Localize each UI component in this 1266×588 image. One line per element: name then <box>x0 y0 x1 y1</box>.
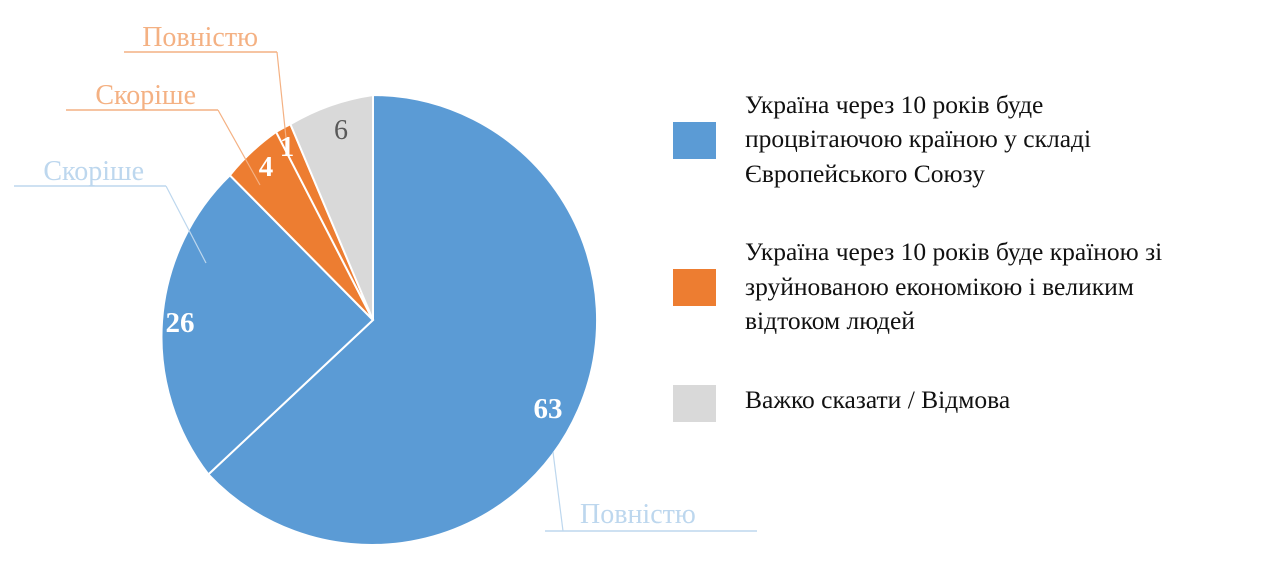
slice-value-rather-prosper: 26 <box>166 307 195 339</box>
legend-line: зруйнованою економікою і великим <box>745 270 1162 304</box>
chart-legend: Україна через 10 років буде процвітаючою… <box>673 88 1253 466</box>
legend-item-hard-to-say[interactable]: Важко сказати / Відмова <box>673 383 1253 422</box>
legend-line: процвітаючою країною у складі <box>745 122 1091 156</box>
legend-swatch-blue <box>673 122 716 159</box>
legend-label-prosperous-eu: Україна через 10 років буде процвітаючою… <box>745 88 1091 191</box>
slice-value-fully-prosper: 63 <box>534 393 563 425</box>
pie-chart-figure: 63 26 4 1 6 Повністю Скоріше Скоріше Пов… <box>0 0 1266 588</box>
legend-line: Важко сказати / Відмова <box>745 383 1010 417</box>
callout-rather-prosper: Скоріше <box>14 156 206 263</box>
legend-label-hard-to-say: Важко сказати / Відмова <box>745 383 1010 417</box>
slice-value-rather-ruined: 4 <box>259 151 274 183</box>
legend-item-prosperous-eu[interactable]: Україна через 10 років буде процвітаючою… <box>673 88 1253 191</box>
legend-item-ruined-economy[interactable]: Україна через 10 років буде країною зі з… <box>673 235 1253 338</box>
callout-label-fully-prosper: Повністю <box>580 499 696 530</box>
legend-swatch-orange <box>673 269 716 306</box>
legend-swatch-gray <box>673 385 716 422</box>
legend-line: відтоком людей <box>745 304 1162 338</box>
callout-leader-fully-ruined <box>277 52 286 138</box>
slice-value-hard-to-say: 6 <box>334 115 348 146</box>
legend-label-ruined-economy: Україна через 10 років буде країною зі з… <box>745 235 1162 338</box>
callout-label-rather-prosper: Скоріше <box>43 156 144 187</box>
callout-leader-fully-prosper <box>553 452 563 531</box>
legend-line: Україна через 10 років буде <box>745 88 1091 122</box>
callout-label-rather-ruined: Скоріше <box>95 80 196 111</box>
callout-label-fully-ruined: Повністю <box>142 22 258 53</box>
slice-value-fully-ruined: 1 <box>280 131 295 163</box>
legend-line: Україна через 10 років буде країною зі <box>745 235 1162 269</box>
legend-line: Європейського Союзу <box>745 157 1091 191</box>
pie-slices <box>161 95 597 545</box>
